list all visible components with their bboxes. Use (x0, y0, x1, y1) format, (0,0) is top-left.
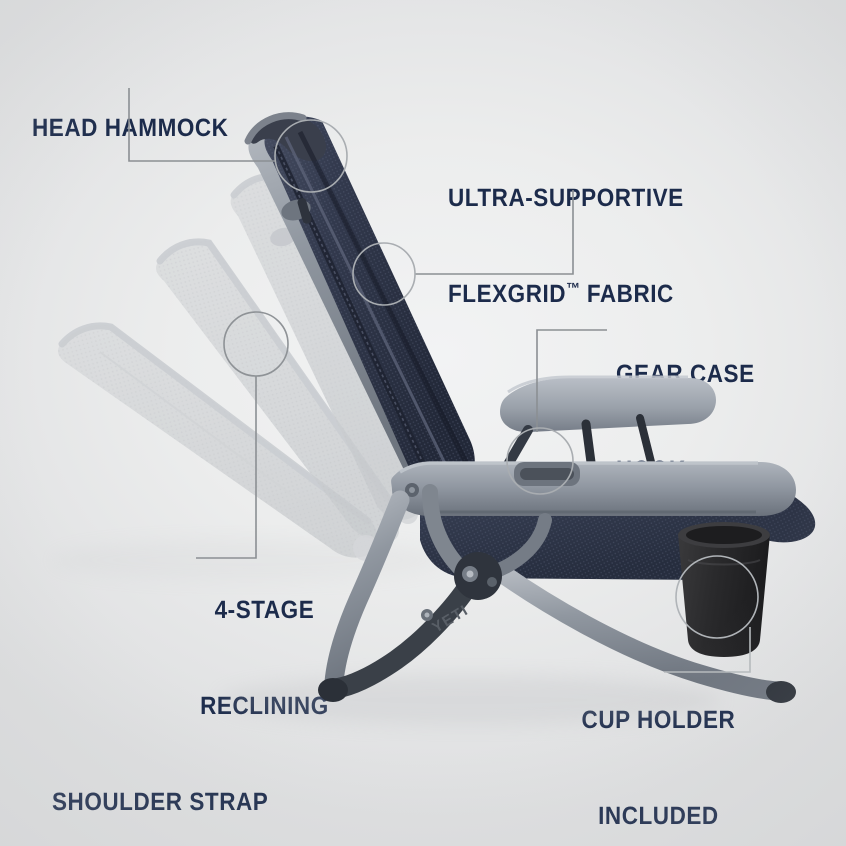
leader-four-stage-reclining (196, 312, 288, 558)
infographic-canvas: YETI (0, 0, 846, 846)
leader-gear-case-hook (507, 330, 607, 494)
leader-cup-holder (664, 556, 758, 672)
leader-flexgrid-fabric (353, 190, 573, 305)
leader-head-hammock (129, 88, 347, 192)
callout-leader-lines (0, 0, 846, 846)
